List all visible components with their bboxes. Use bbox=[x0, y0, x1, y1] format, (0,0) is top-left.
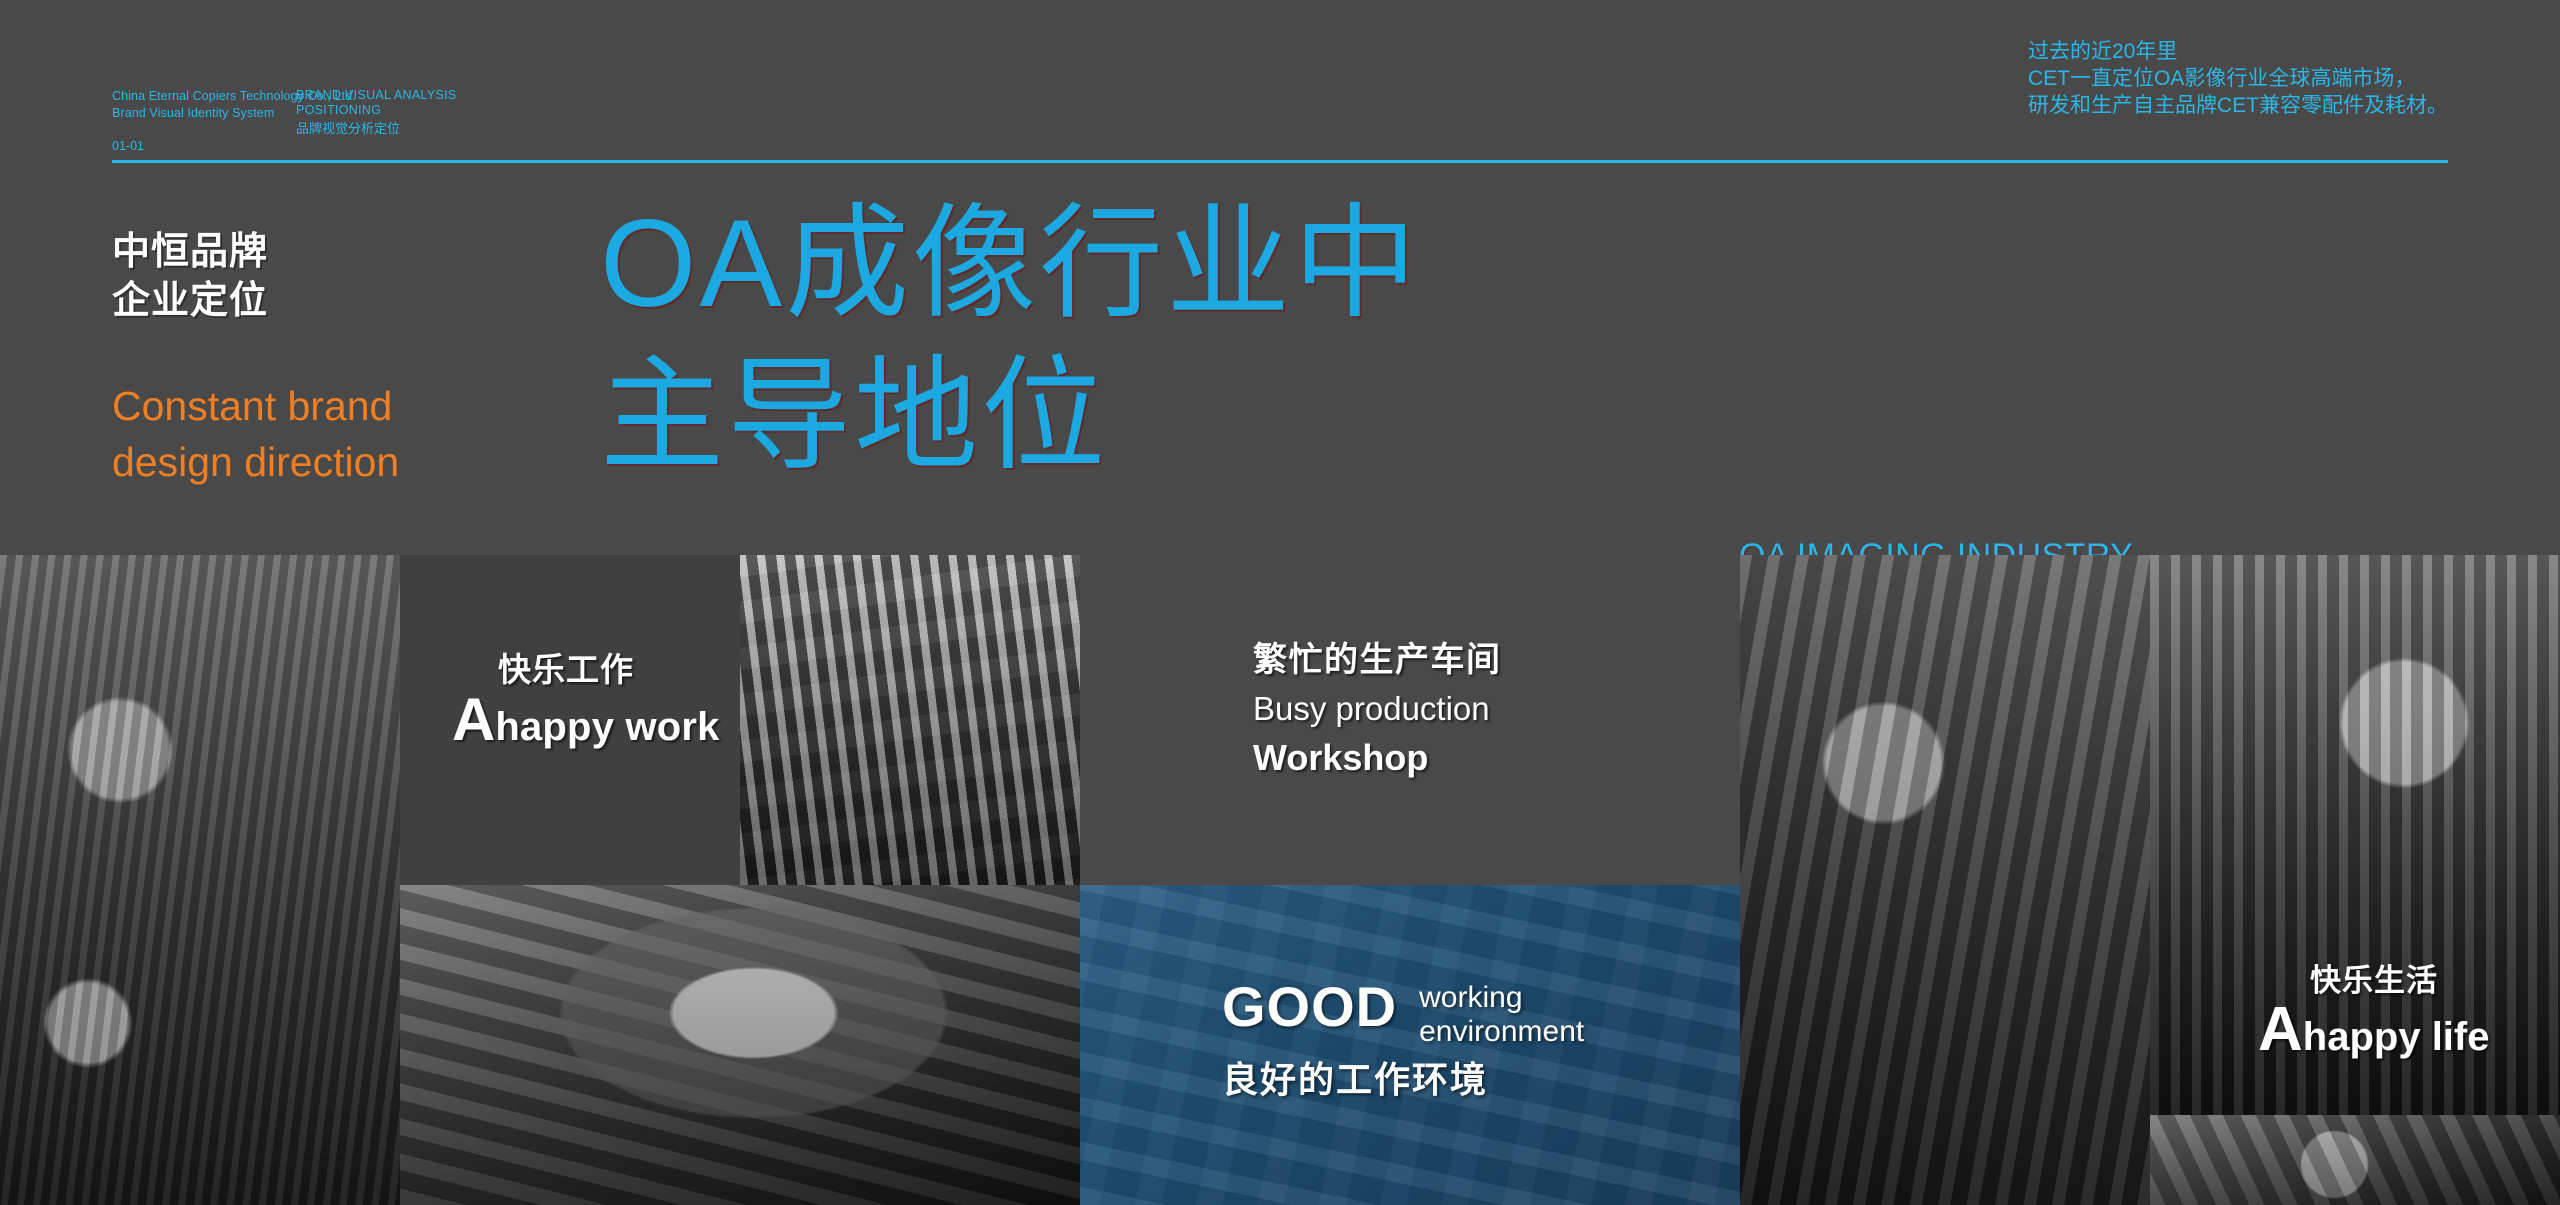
caption-workshop-en-line2: Workshop bbox=[1253, 735, 1502, 782]
caption-busy-workshop: 繁忙的生产车间 Busy production Workshop bbox=[1253, 641, 1502, 782]
hero-headline-line1: OA成像行业中 bbox=[600, 188, 1420, 340]
caption-happy-life-cn: 快乐生活 bbox=[2310, 963, 2489, 999]
hero-orange-line2: design direction bbox=[112, 434, 399, 490]
caption-good-headline: GOOD bbox=[1222, 979, 1397, 1035]
page-number: 01-01 bbox=[112, 138, 356, 155]
hero-headline: OA成像行业中 主导地位 bbox=[600, 188, 1420, 492]
header-intro-paragraph: 过去的近20年里 CET一直定位OA影像行业全球高端市场， 研发和生产自主品牌C… bbox=[2028, 38, 2448, 119]
brand-board: China Eternal Copiers Technology Co., Lt… bbox=[0, 0, 2560, 1205]
photo-mosaic: 快乐工作 A happy work 繁忙的生产车间 Busy productio… bbox=[0, 555, 2560, 1205]
caption-good-environment: GOOD working environment 良好的工作环境 bbox=[1222, 979, 1584, 1100]
photo-toner-filling-machine bbox=[0, 555, 400, 1205]
photo-assembly-line-workers bbox=[1740, 555, 2150, 1205]
section-title-cn: 品牌视觉分析定位 bbox=[296, 120, 457, 137]
caption-good-cn: 良好的工作环境 bbox=[1222, 1059, 1584, 1100]
header-section-block: BRAND VISUAL ANALYSIS POSITIONING 品牌视觉分析… bbox=[296, 88, 457, 137]
hero-cn-label-line2: 企业定位 bbox=[112, 277, 399, 326]
hero-section: 中恒品牌 企业定位 Constant brand design directio… bbox=[0, 168, 2560, 555]
caption-good-en-line2: environment bbox=[1419, 1015, 1584, 1049]
intro-line-2: CET一直定位OA影像行业全球高端市场， bbox=[2028, 65, 2448, 92]
caption-happy-work-en: happy work bbox=[495, 704, 719, 750]
caption-happy-work-initial: A bbox=[452, 691, 495, 748]
caption-happy-work-cn: 快乐工作 bbox=[498, 651, 720, 689]
section-title-en-line2: POSITIONING bbox=[296, 103, 457, 118]
intro-line-1: 过去的近20年里 bbox=[2028, 38, 2448, 65]
hero-headline-line2: 主导地位 bbox=[600, 340, 1420, 492]
photo-worker-inspecting-cartridge bbox=[400, 885, 1080, 1205]
caption-good-en-line1: working bbox=[1419, 981, 1584, 1015]
caption-happy-life-initial: A bbox=[2258, 1001, 2303, 1060]
section-title-en-line1: BRAND VISUAL ANALYSIS bbox=[296, 88, 457, 103]
photo-workbench-assembly bbox=[2150, 1115, 2560, 1205]
photo-drum-racks bbox=[740, 555, 1080, 885]
caption-workshop-cn: 繁忙的生产车间 bbox=[1253, 641, 1502, 680]
page-header: China Eternal Copiers Technology Co., Lt… bbox=[0, 0, 2560, 168]
caption-happy-work: 快乐工作 A happy work bbox=[452, 651, 720, 750]
caption-happy-life-en: happy life bbox=[2303, 1014, 2490, 1060]
hero-orange-line1: Constant brand bbox=[112, 378, 399, 434]
header-divider-rule bbox=[112, 160, 2448, 163]
caption-workshop-en-line1: Busy production bbox=[1253, 688, 1502, 731]
intro-line-3: 研发和生产自主品牌CET兼容零配件及耗材。 bbox=[2028, 92, 2448, 119]
hero-left-labels: 中恒品牌 企业定位 Constant brand design directio… bbox=[112, 228, 399, 490]
caption-happy-life: 快乐生活 A happy life bbox=[2258, 963, 2489, 1060]
hero-cn-label-line1: 中恒品牌 bbox=[112, 228, 399, 277]
